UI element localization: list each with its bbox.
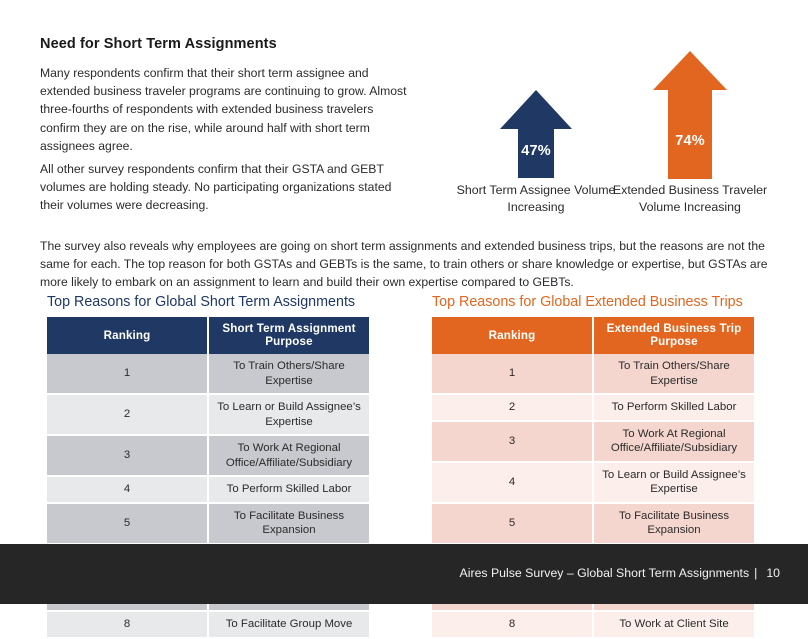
column-header-purpose: Short Term Assignment Purpose (208, 317, 369, 354)
statistic-arrows-group: 47% Short Term Assignee Volume Increasin… (450, 20, 760, 215)
up-arrow-icon (456, 88, 616, 185)
table-row: 1To Train Others/Share Expertise (47, 354, 369, 394)
stat-caption-extended-business: Extended Business Traveler Volume Increa… (610, 182, 770, 215)
column-header-purpose: Extended Business Trip Purpose (593, 317, 754, 354)
cell-purpose: To Train Others/Share Expertise (593, 354, 754, 394)
column-header-ranking: Ranking (432, 317, 593, 354)
table-row: 2To Learn or Build Assignee’s Expertise (47, 394, 369, 435)
cell-rank: 3 (432, 421, 593, 462)
cell-purpose: To Facilitate Group Move (208, 611, 369, 638)
stat-caption-short-term: Short Term Assignee Volume Increasing (456, 182, 616, 215)
cell-rank: 4 (47, 476, 208, 503)
footer-label: Aires Pulse Survey – Global Short Term A… (460, 566, 750, 580)
cell-rank: 1 (432, 354, 593, 394)
cell-rank: 5 (432, 503, 593, 544)
cell-rank: 2 (432, 394, 593, 421)
cell-purpose: To Perform Skilled Labor (593, 394, 754, 421)
table-row: 8To Facilitate Group Move (47, 611, 369, 638)
body-paragraph-3: The survey also reveals why employees ar… (40, 237, 768, 292)
cell-purpose: To Work at Client Site (593, 611, 754, 638)
cell-rank: 8 (47, 611, 208, 638)
cell-purpose: To Learn or Build Assignee’s Expertise (208, 394, 369, 435)
cell-purpose: To Work At Regional Office/Affiliate/Sub… (593, 421, 754, 462)
cell-purpose: To Train Others/Share Expertise (208, 354, 369, 394)
cell-purpose: To Facilitate Business Expansion (593, 503, 754, 544)
cell-rank: 2 (47, 394, 208, 435)
page-title: Need for Short Term Assignments (40, 36, 277, 52)
table-title-right: Top Reasons for Global Extended Business… (432, 292, 754, 312)
table-header-row: Ranking Extended Business Trip Purpose (432, 317, 754, 354)
table-row: 5To Facilitate Business Expansion (432, 503, 754, 544)
cell-purpose: To Learn or Build Assignee’s Expertise (593, 462, 754, 503)
cell-rank: 4 (432, 462, 593, 503)
table-row: 3To Work At Regional Office/Affiliate/Su… (47, 435, 369, 476)
body-paragraph-1: Many respondents confirm that their shor… (40, 64, 412, 155)
table-row: 8To Work at Client Site (432, 611, 754, 638)
table-row: 3To Work At Regional Office/Affiliate/Su… (432, 421, 754, 462)
footer-separator: | (754, 566, 757, 580)
up-arrow-icon (610, 49, 770, 186)
cell-purpose: To Perform Skilled Labor (208, 476, 369, 503)
cell-purpose: To Facilitate Business Expansion (208, 503, 369, 544)
page-number: 10 (766, 566, 780, 580)
cell-purpose: To Work At Regional Office/Affiliate/Sub… (208, 435, 369, 476)
cell-rank: 1 (47, 354, 208, 394)
footer: Aires Pulse Survey – Global Short Term A… (460, 566, 780, 580)
table-row: 5To Facilitate Business Expansion (47, 503, 369, 544)
body-paragraph-2: All other survey respondents confirm tha… (40, 160, 412, 215)
table-header-row: Ranking Short Term Assignment Purpose (47, 317, 369, 354)
cell-rank: 8 (432, 611, 593, 638)
table-title-left: Top Reasons for Global Short Term Assign… (47, 292, 369, 312)
table-row: 2To Perform Skilled Labor (432, 394, 754, 421)
slide-canvas: Need for Short Term Assignments Many res… (0, 0, 808, 604)
cell-rank: 5 (47, 503, 208, 544)
table-row: 1To Train Others/Share Expertise (432, 354, 754, 394)
stat-value-extended-business: 74% (610, 133, 770, 149)
cell-rank: 3 (47, 435, 208, 476)
stat-value-short-term: 47% (456, 143, 616, 159)
table-row: 4To Perform Skilled Labor (47, 476, 369, 503)
table-row: 4To Learn or Build Assignee’s Expertise (432, 462, 754, 503)
column-header-ranking: Ranking (47, 317, 208, 354)
